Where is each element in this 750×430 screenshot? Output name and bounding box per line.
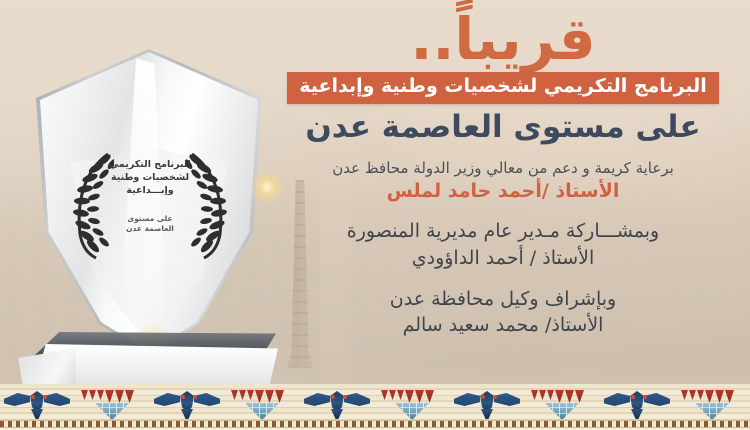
triangle-icon (89, 390, 96, 400)
border-triangle-motif (225, 386, 300, 422)
supervision-name: الأستاذ/ محمد سعيد سالم (268, 312, 738, 339)
patronage-name: الأستاذ /أحمد حامد لملس (268, 178, 738, 205)
eagle-part-eyer (493, 395, 497, 399)
eagle-icon (454, 391, 520, 417)
border-eagle-motif (450, 386, 525, 422)
eagle-part-eyer (643, 395, 647, 399)
triangle-icon (555, 390, 564, 403)
triangle-row (381, 390, 434, 403)
triangle-cluster-icon (81, 390, 143, 420)
border-eagle-motif (600, 386, 675, 422)
eagle-icon (4, 391, 70, 417)
eagle-part-wingl (304, 393, 330, 406)
diamond-grid-overlay (695, 403, 729, 420)
triangle-icon (689, 390, 696, 400)
patronage-block: برعاية كريمة و دعم من معالي وزير الدولة … (268, 158, 738, 205)
program-title-banner: البرنامج التكريمي لشخصيات وطنية وإبداعية (287, 72, 719, 104)
triangle-icon (397, 390, 404, 400)
eagle-part-wingr (494, 393, 520, 406)
diamond-grid-overlay (245, 403, 279, 420)
triangle-icon (255, 390, 264, 403)
border-eagle-motif (0, 386, 75, 422)
eagle-part-tail (481, 409, 493, 419)
emblem-line-3: وإبـــداعية (62, 184, 238, 197)
eagle-part-eyel (481, 395, 485, 399)
triangle-icon (389, 390, 396, 400)
eagle-icon (154, 391, 220, 417)
banner-row: البرنامج التكريمي لشخصيات وطنية وإبداعية (268, 72, 738, 104)
triangle-cluster-icon (681, 390, 743, 420)
triangle-icon (547, 390, 554, 400)
triangle-icon (115, 390, 124, 403)
emblem-line-1: البرنامج التكريمي (62, 158, 238, 171)
eagle-icon (304, 391, 370, 417)
diamond-grid-overlay (545, 403, 579, 420)
poster-text-content: قريباً.. البرنامج التكريمي لشخصيات وطنية… (268, 10, 738, 339)
triangle-icon (265, 390, 274, 403)
triangle-icon (247, 390, 254, 400)
triangle-icon (125, 390, 134, 403)
eagle-part-tail (331, 409, 343, 419)
headline-coming-soon: قريباً.. (268, 10, 738, 68)
triangle-icon (81, 390, 88, 400)
eagle-part-wingl (454, 393, 480, 406)
triangle-icon (531, 390, 538, 400)
border-eagle-motif (150, 386, 225, 422)
trophy-emblem: البرنامج التكريمي لشخصيات وطنية وإبـــدا… (62, 144, 238, 274)
triangle-icon (681, 390, 688, 400)
eagle-part-eyel (31, 395, 35, 399)
triangle-icon (575, 390, 584, 403)
triangle-row (81, 390, 134, 403)
participation-name: الأستاذ / أحمد الداؤودي (268, 245, 738, 272)
eagle-part-tail (631, 409, 643, 419)
triangle-row (531, 390, 584, 403)
border-dotted-row (0, 420, 750, 428)
eagle-part-eyel (631, 395, 635, 399)
eagle-part-wingl (154, 393, 180, 406)
triangle-icon (697, 390, 704, 400)
eagle-part-eyer (193, 395, 197, 399)
decorative-bottom-border (0, 384, 750, 430)
triangle-row (681, 390, 734, 403)
emblem-subtitle-text: على مستوى العاصمة عدن (62, 214, 238, 234)
triangle-cluster-icon (231, 390, 293, 420)
triangle-icon (231, 390, 238, 400)
participation-block: وبمشـــاركة مـدير عام مديرية المنصورة ال… (268, 218, 738, 271)
eagle-part-tail (31, 409, 43, 419)
supervision-block: وبإشراف وكيل محافظة عدن الأستاذ/ محمد سع… (268, 286, 738, 339)
eagle-part-wingr (344, 393, 370, 406)
triangle-icon (97, 390, 104, 400)
eagle-part-eyel (331, 395, 335, 399)
participation-line: وبمشـــاركة مـدير عام مديرية المنصورة (268, 218, 738, 245)
eagle-part-wingl (604, 393, 630, 406)
poster-canvas: البرنامج التكريمي لشخصيات وطنية وإبـــدا… (0, 0, 750, 430)
eagle-part-wingr (44, 393, 70, 406)
eagle-part-wingr (194, 393, 220, 406)
emblem-title-text: البرنامج التكريمي لشخصيات وطنية وإبـــدا… (62, 158, 238, 197)
supervision-line: وبإشراف وكيل محافظة عدن (268, 286, 738, 313)
triangle-icon (725, 390, 734, 403)
eagle-icon (604, 391, 670, 417)
triangle-icon (565, 390, 574, 403)
border-eagle-motif (300, 386, 375, 422)
border-motif-row (0, 386, 750, 422)
trophy-award: البرنامج التكريمي لشخصيات وطنية وإبـــدا… (18, 52, 283, 402)
eagle-part-wingl (4, 393, 30, 406)
triangle-cluster-icon (381, 390, 443, 420)
diamond-grid-overlay (395, 403, 429, 420)
triangle-icon (539, 390, 546, 400)
program-scope-subheading: على مستوى العاصمة عدن (268, 109, 738, 146)
diamond-grid-overlay (95, 403, 129, 420)
triangle-icon (405, 390, 414, 403)
triangle-icon (715, 390, 724, 403)
eagle-part-eyel (181, 395, 185, 399)
triangle-cluster-icon (531, 390, 593, 420)
triangle-row (231, 390, 284, 403)
triangle-icon (381, 390, 388, 400)
eagle-part-eyer (343, 395, 347, 399)
triangle-icon (239, 390, 246, 400)
eagle-part-eyer (43, 395, 47, 399)
border-triangle-motif (525, 386, 600, 422)
triangle-icon (105, 390, 114, 403)
triangle-icon (415, 390, 424, 403)
eagle-part-tail (181, 409, 193, 419)
patronage-line: برعاية كريمة و دعم من معالي وزير الدولة … (268, 158, 738, 178)
triangle-icon (705, 390, 714, 403)
emblem-line-2: لشخصيات وطنية (62, 171, 238, 184)
triangle-icon (425, 390, 434, 403)
eagle-part-wingr (644, 393, 670, 406)
triangle-icon (275, 390, 284, 403)
border-triangle-motif (75, 386, 150, 422)
emblem-sub-line-1: على مستوى (62, 214, 238, 224)
border-triangle-motif (675, 386, 750, 422)
emblem-sub-line-2: العاصمة عدن (62, 224, 238, 234)
border-triangle-motif (375, 386, 450, 422)
